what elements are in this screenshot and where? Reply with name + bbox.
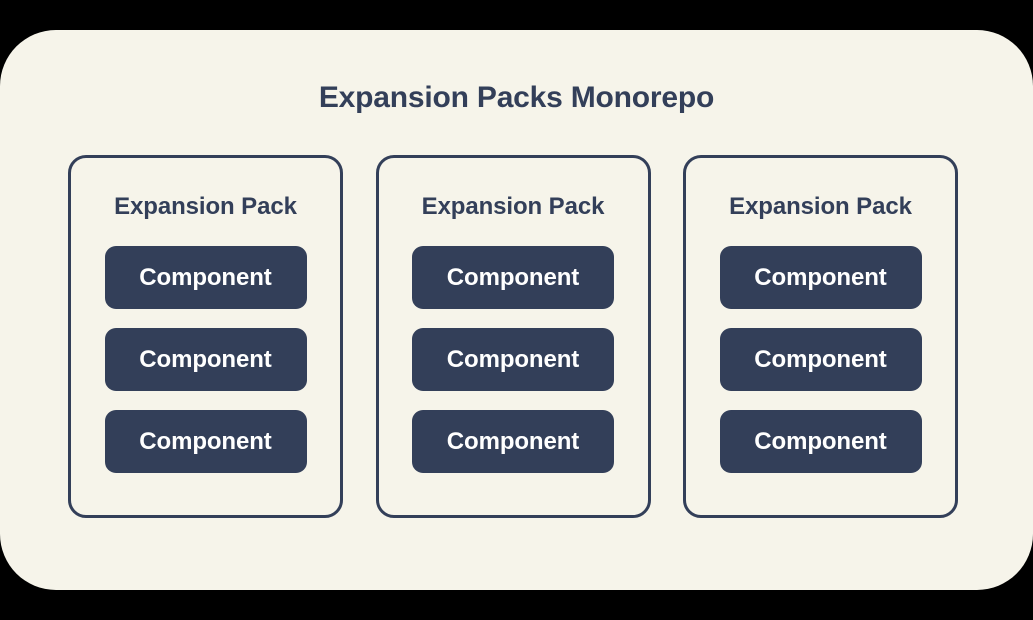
expansion-pack-3-title: Expansion Pack xyxy=(729,192,912,222)
expansion-pack-2[interactable]: Expansion Pack Component Component Compo… xyxy=(376,155,651,518)
component-chip[interactable]: Component xyxy=(105,410,307,473)
expansion-pack-1-components: Component Component Component xyxy=(105,246,307,473)
component-chip[interactable]: Component xyxy=(720,410,922,473)
component-chip[interactable]: Component xyxy=(412,246,614,309)
diagram-canvas: Expansion Packs Monorepo Expansion Pack … xyxy=(0,0,1033,620)
expansion-pack-1-title: Expansion Pack xyxy=(114,192,297,222)
component-chip[interactable]: Component xyxy=(412,328,614,391)
component-chip[interactable]: Component xyxy=(105,328,307,391)
expansion-packs-row: Expansion Pack Component Component Compo… xyxy=(68,155,958,518)
component-chip[interactable]: Component xyxy=(720,246,922,309)
component-chip[interactable]: Component xyxy=(105,246,307,309)
component-chip[interactable]: Component xyxy=(412,410,614,473)
page-title: Expansion Packs Monorepo xyxy=(0,78,1033,118)
monorepo-card: Expansion Packs Monorepo Expansion Pack … xyxy=(0,30,1033,590)
expansion-pack-2-components: Component Component Component xyxy=(412,246,614,473)
component-chip[interactable]: Component xyxy=(720,328,922,391)
expansion-pack-3[interactable]: Expansion Pack Component Component Compo… xyxy=(683,155,958,518)
expansion-pack-1[interactable]: Expansion Pack Component Component Compo… xyxy=(68,155,343,518)
expansion-pack-2-title: Expansion Pack xyxy=(422,192,605,222)
expansion-pack-3-components: Component Component Component xyxy=(720,246,922,473)
